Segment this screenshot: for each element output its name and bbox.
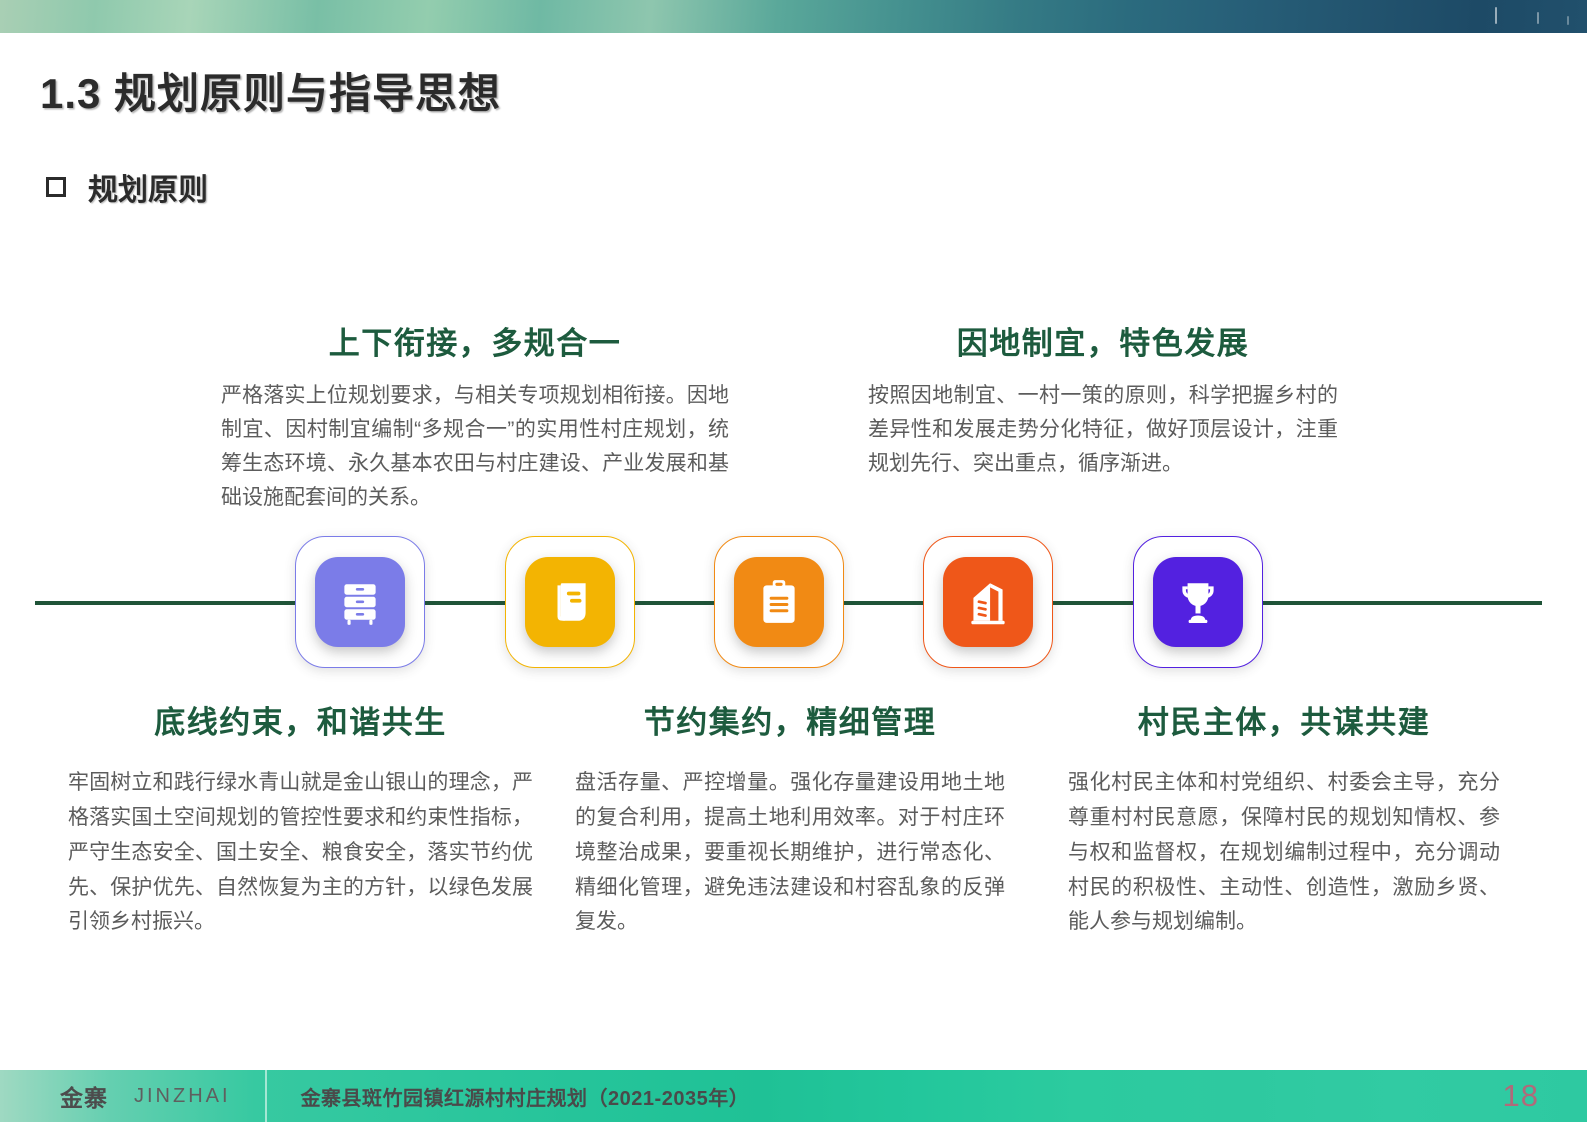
icon-tile-trophy[interactable] xyxy=(1133,536,1263,668)
principle-title: 上下衔接，多规合一 xyxy=(221,318,729,363)
page-number: 18 xyxy=(1503,1078,1539,1114)
principle-body: 强化村民主体和村党组织、村委会主导，充分尊重村村民意愿，保障村民的规划知情权、参… xyxy=(1068,766,1500,940)
top-banner-image xyxy=(0,0,1587,33)
principle-card-top-2: 因地制宜，特色发展 按照因地制宜、一村一策的原则，科学把握乡村的差异性和发展走势… xyxy=(868,318,1338,481)
principle-card-bottom-1: 底线约束，和谐共生 牢固树立和践行绿水青山就是金山银山的理念，严格落实国土空间规… xyxy=(68,697,533,940)
building-icon xyxy=(943,557,1033,647)
principle-title: 底线约束，和谐共生 xyxy=(68,697,533,742)
footer-bar: 金寨 JINZHAI 金寨县斑竹园镇红源村村庄规划（2021-2035年） 18 xyxy=(0,1070,1587,1122)
principle-title: 因地制宜，特色发展 xyxy=(868,318,1338,363)
brand-name-cn: 金寨 xyxy=(60,1079,108,1113)
page-title: 1.3 规划原则与指导思想 xyxy=(40,60,501,121)
principle-card-top-1: 上下衔接，多规合一 严格落实上位规划要求，与相关专项规划相衔接。因地制宜、因村制… xyxy=(221,318,729,515)
icon-tile-filing-cabinet[interactable] xyxy=(295,536,425,668)
footer-divider xyxy=(265,1070,267,1122)
principle-card-bottom-3: 村民主体，共谋共建 强化村民主体和村党组织、村委会主导，充分尊重村村民意愿，保障… xyxy=(1068,697,1500,940)
section-heading: 规划原则 xyxy=(46,165,208,209)
principle-title: 节约集约，精细管理 xyxy=(575,697,1005,742)
section-heading-label: 规划原则 xyxy=(88,165,208,209)
icon-row xyxy=(0,536,1587,671)
principle-body: 牢固树立和践行绿水青山就是金山银山的理念，严格落实国土空间规划的管控性要求和约束… xyxy=(68,766,533,940)
banner-streak-icon xyxy=(1495,7,1497,24)
icon-tile-building[interactable] xyxy=(923,536,1053,668)
icon-tile-document[interactable] xyxy=(505,536,635,668)
principle-body: 严格落实上位规划要求，与相关专项规划相衔接。因地制宜、因村制宜编制“多规合一”的… xyxy=(221,379,729,515)
banner-streak-icon xyxy=(1567,16,1569,25)
principle-body: 盘活存量、严控增量。强化存量建设用地土地的复合利用，提高土地利用效率。对于村庄环… xyxy=(575,766,1005,940)
banner-streak-icon xyxy=(1537,12,1539,24)
square-bullet-icon xyxy=(46,177,66,197)
principle-card-bottom-2: 节约集约，精细管理 盘活存量、严控增量。强化存量建设用地土地的复合利用，提高土地… xyxy=(575,697,1005,940)
brand-name-en: JINZHAI xyxy=(134,1085,231,1108)
principle-body: 按照因地制宜、一村一策的原则，科学把握乡村的差异性和发展走势分化特征，做好顶层设… xyxy=(868,379,1338,481)
principle-title: 村民主体，共谋共建 xyxy=(1068,697,1500,742)
icon-tile-clipboard[interactable] xyxy=(714,536,844,668)
document-paper-icon xyxy=(525,557,615,647)
filing-cabinet-icon xyxy=(315,557,405,647)
footer-document-title: 金寨县斑竹园镇红源村村庄规划（2021-2035年） xyxy=(301,1082,750,1111)
clipboard-icon xyxy=(734,557,824,647)
trophy-icon xyxy=(1153,557,1243,647)
